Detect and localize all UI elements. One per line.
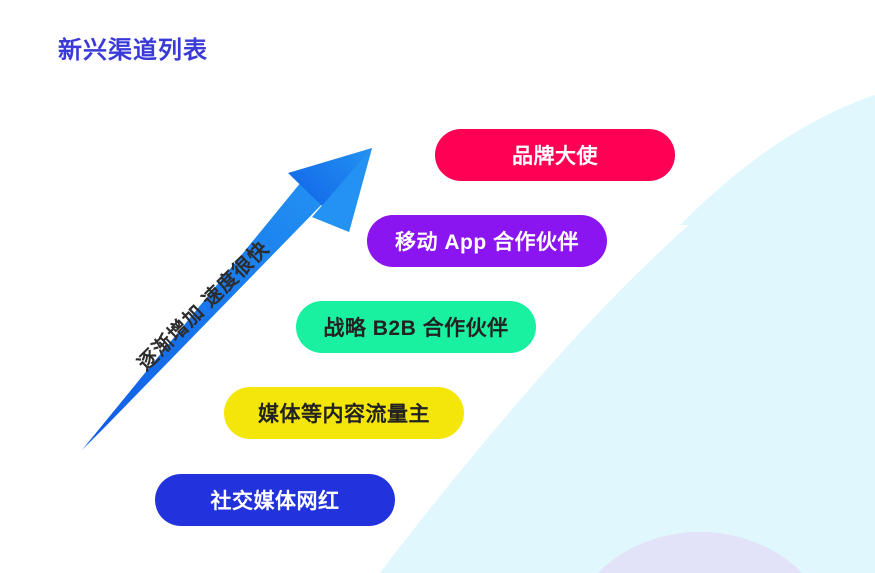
page-title: 新兴渠道列表 — [58, 30, 208, 65]
channel-pill-label: 战略 B2B 合作伙伴 — [323, 312, 508, 342]
channel-pill-media-content-publisher[interactable]: 媒体等内容流量主 — [224, 387, 464, 439]
channel-pill-strategic-b2b-partner[interactable]: 战略 B2B 合作伙伴 — [296, 301, 536, 353]
channel-pill-label: 媒体等内容流量主 — [258, 398, 430, 428]
slide-canvas: 新兴渠道列表 逐渐增加 速度很快 品牌大使 移动 App 合作伙伴 战略 B2B… — [0, 0, 875, 573]
cyan-band-upper-edge — [680, 95, 875, 225]
lavender-circle-shape — [570, 532, 830, 573]
channel-pill-label: 社交媒体网红 — [211, 485, 340, 515]
channel-pill-label: 品牌大使 — [512, 140, 598, 170]
channel-pill-social-media-influencer[interactable]: 社交媒体网红 — [155, 474, 395, 526]
channel-pill-label: 移动 App 合作伙伴 — [395, 226, 579, 256]
channel-pill-brand-ambassador[interactable]: 品牌大使 — [435, 129, 675, 181]
channel-pill-mobile-app-partner[interactable]: 移动 App 合作伙伴 — [367, 215, 607, 267]
